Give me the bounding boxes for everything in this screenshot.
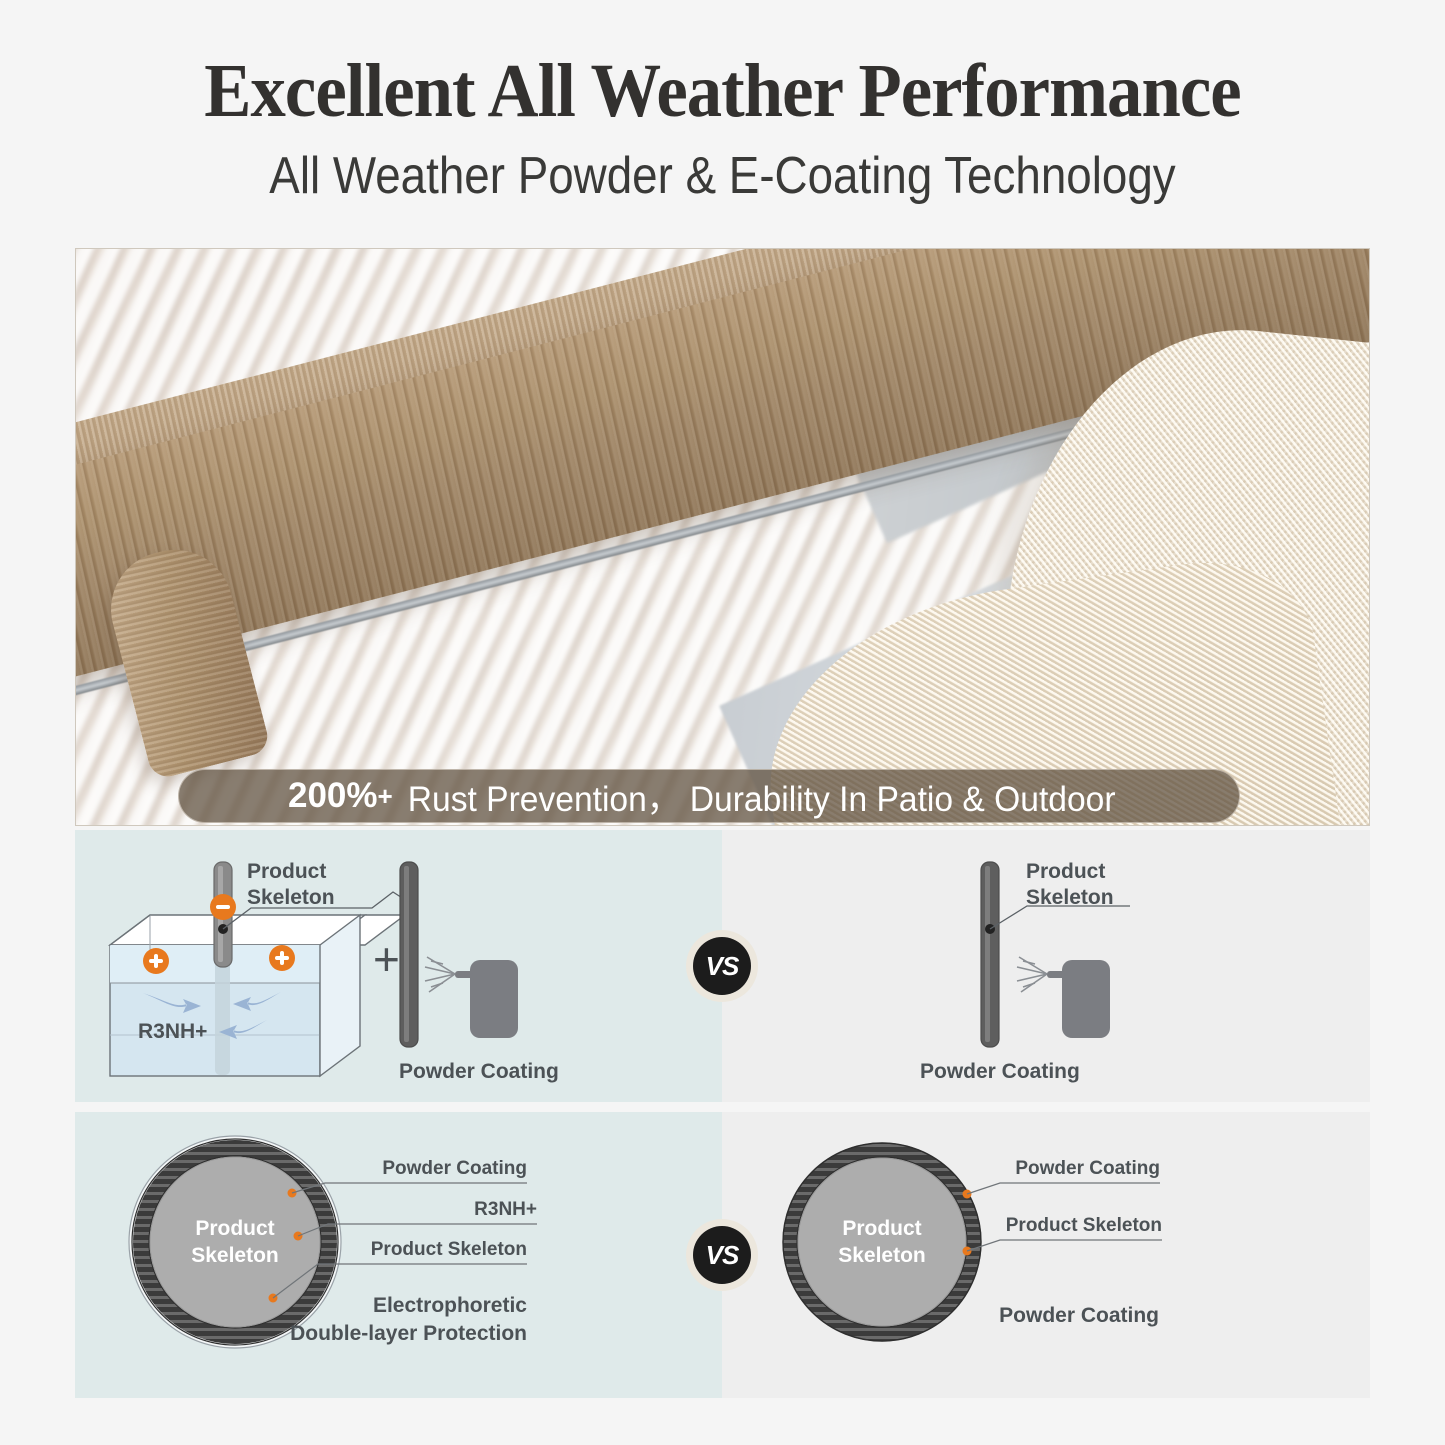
comparison-row-cross-section: Product Skeleton Powder Coating R3NH+ Pr… — [75, 1112, 1370, 1398]
caption-line2: Double-layer Protection — [290, 1322, 527, 1345]
plus-operator: + — [373, 933, 400, 985]
banner-superscript: + — [378, 781, 393, 812]
process-panel-powder-only: Product Skeleton Product Skeleton — [722, 830, 1370, 1102]
core-product-skeleton — [798, 1158, 966, 1326]
powder-only-cross-section-diagram: Product Skeleton Powder Coating Product … — [722, 1112, 1370, 1398]
spray-gun-icon — [1017, 957, 1110, 1038]
page-subtitle: All Weather Powder & E-Coating Technolog… — [87, 146, 1359, 206]
positive-ion-marker-right — [269, 945, 295, 971]
core-label-line2: Skeleton — [191, 1244, 279, 1267]
core-product-skeleton — [150, 1157, 320, 1327]
caption-powder-coating: Powder Coating — [999, 1304, 1159, 1327]
callout-label-r3nh: R3NH+ — [474, 1199, 537, 1220]
vs-badge-row2: VS — [686, 1219, 758, 1291]
callout-label-product-skeleton: Product Skeleton — [371, 1239, 527, 1260]
banner-highlight: 200% — [288, 776, 378, 816]
powder-coating-label: Powder Coating — [399, 1060, 559, 1083]
cross-section-panel-ecoat: Product Skeleton Powder Coating R3NH+ Pr… — [75, 1112, 722, 1398]
vs-label: VS — [693, 937, 751, 995]
callout-label-powder-coating: Powder Coating — [382, 1158, 527, 1179]
ecoat-process-diagram: R3NH+ Product Skeleton Product Skeleton … — [75, 830, 722, 1102]
comparison-row-process: R3NH+ Product Skeleton Product Skeleton … — [75, 830, 1370, 1102]
hero-banner: 200%+Rust Prevention， Durability In Pati… — [178, 769, 1240, 823]
core-label-line1: Product — [842, 1217, 921, 1240]
banner-text: Rust Prevention， Durability In Patio & O… — [407, 771, 1115, 822]
solution-label: R3NH+ — [138, 1020, 207, 1043]
callout-label-product-skeleton: Product Skeleton — [1006, 1215, 1162, 1236]
skeleton-label-line2: Skeleton — [247, 886, 335, 909]
skeleton-label-line1: Product — [247, 860, 326, 883]
caption-line1: Electrophoretic — [373, 1294, 527, 1317]
vs-badge-row1: VS — [686, 930, 758, 1002]
skeleton-label-line2: Skeleton — [1026, 886, 1114, 909]
core-label-line2: Skeleton — [838, 1244, 926, 1267]
powder-only-process-diagram: Product Skeleton Product Skeleton — [722, 830, 1370, 1102]
positive-ion-marker-left — [143, 948, 169, 974]
page-title: Excellent All Weather Performance — [51, 48, 1395, 135]
hero-photo — [75, 248, 1370, 826]
powder-coating-label: Powder Coating — [920, 1060, 1080, 1083]
ecoat-cross-section-diagram: Product Skeleton Powder Coating R3NH+ Pr… — [75, 1112, 722, 1398]
cross-section-panel-powder-only: Product Skeleton Powder Coating Product … — [722, 1112, 1370, 1398]
vs-label: VS — [693, 1226, 751, 1284]
skeleton-label-line1: Product — [1026, 860, 1105, 883]
callout-label-powder-coating: Powder Coating — [1015, 1158, 1160, 1179]
process-panel-ecoat: R3NH+ Product Skeleton Product Skeleton … — [75, 830, 722, 1102]
page-root: Excellent All Weather Performance All We… — [0, 0, 1445, 1445]
core-label-line1: Product — [195, 1217, 274, 1240]
spray-gun-icon — [425, 957, 518, 1038]
